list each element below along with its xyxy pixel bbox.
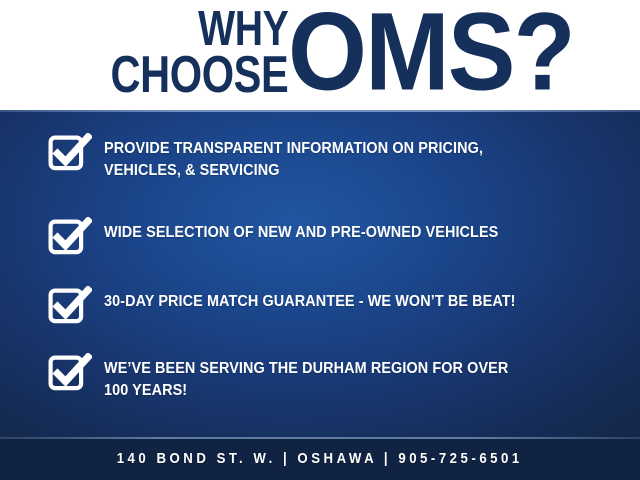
heading-line-choose: CHOOSE — [111, 52, 289, 100]
list-item: PROVIDE TRANSPARENT INFORMATION ON PRICI… — [48, 132, 608, 182]
benefits-list: PROVIDE TRANSPARENT INFORMATION ON PRICI… — [48, 132, 608, 402]
header-banner: WHY CHOOSE OMS? — [0, 0, 640, 110]
list-item-label: WIDE SELECTION OF NEW AND PRE-OWNED VEHI… — [104, 216, 498, 244]
checkbox-checked-icon — [48, 286, 92, 324]
footer-top-divider — [0, 437, 640, 439]
brand-name-oms: OMS? — [288, 5, 574, 106]
list-item-label: 30-DAY PRICE MATCH GUARANTEE - WE WON’T … — [104, 285, 516, 313]
list-item: WE’VE BEEN SERVING THE DURHAM REGION FOR… — [48, 352, 608, 402]
list-item-label: WE’VE BEEN SERVING THE DURHAM REGION FOR… — [104, 352, 508, 402]
list-item: WIDE SELECTION OF NEW AND PRE-OWNED VEHI… — [48, 216, 608, 255]
why-choose-heading: WHY CHOOSE — [111, 7, 289, 104]
list-item-label: PROVIDE TRANSPARENT INFORMATION ON PRICI… — [104, 132, 483, 182]
contact-footer-bar: 140 BOND ST. W. | OSHAWA | 905-725-6501 — [0, 437, 640, 480]
benefits-panel: PROVIDE TRANSPARENT INFORMATION ON PRICI… — [0, 110, 640, 437]
checkbox-checked-icon — [48, 217, 92, 255]
panel-top-divider — [0, 110, 640, 112]
checkbox-checked-icon — [48, 353, 92, 391]
header-inner: WHY CHOOSE OMS? — [48, 0, 591, 110]
checkbox-checked-icon — [48, 133, 92, 171]
contact-info-text: 140 BOND ST. W. | OSHAWA | 905-725-6501 — [117, 450, 523, 467]
list-item: 30-DAY PRICE MATCH GUARANTEE - WE WON’T … — [48, 285, 608, 324]
why-choose-oms-poster: WHY CHOOSE OMS? PROVIDE TRANSPARENT INFO… — [0, 0, 640, 480]
